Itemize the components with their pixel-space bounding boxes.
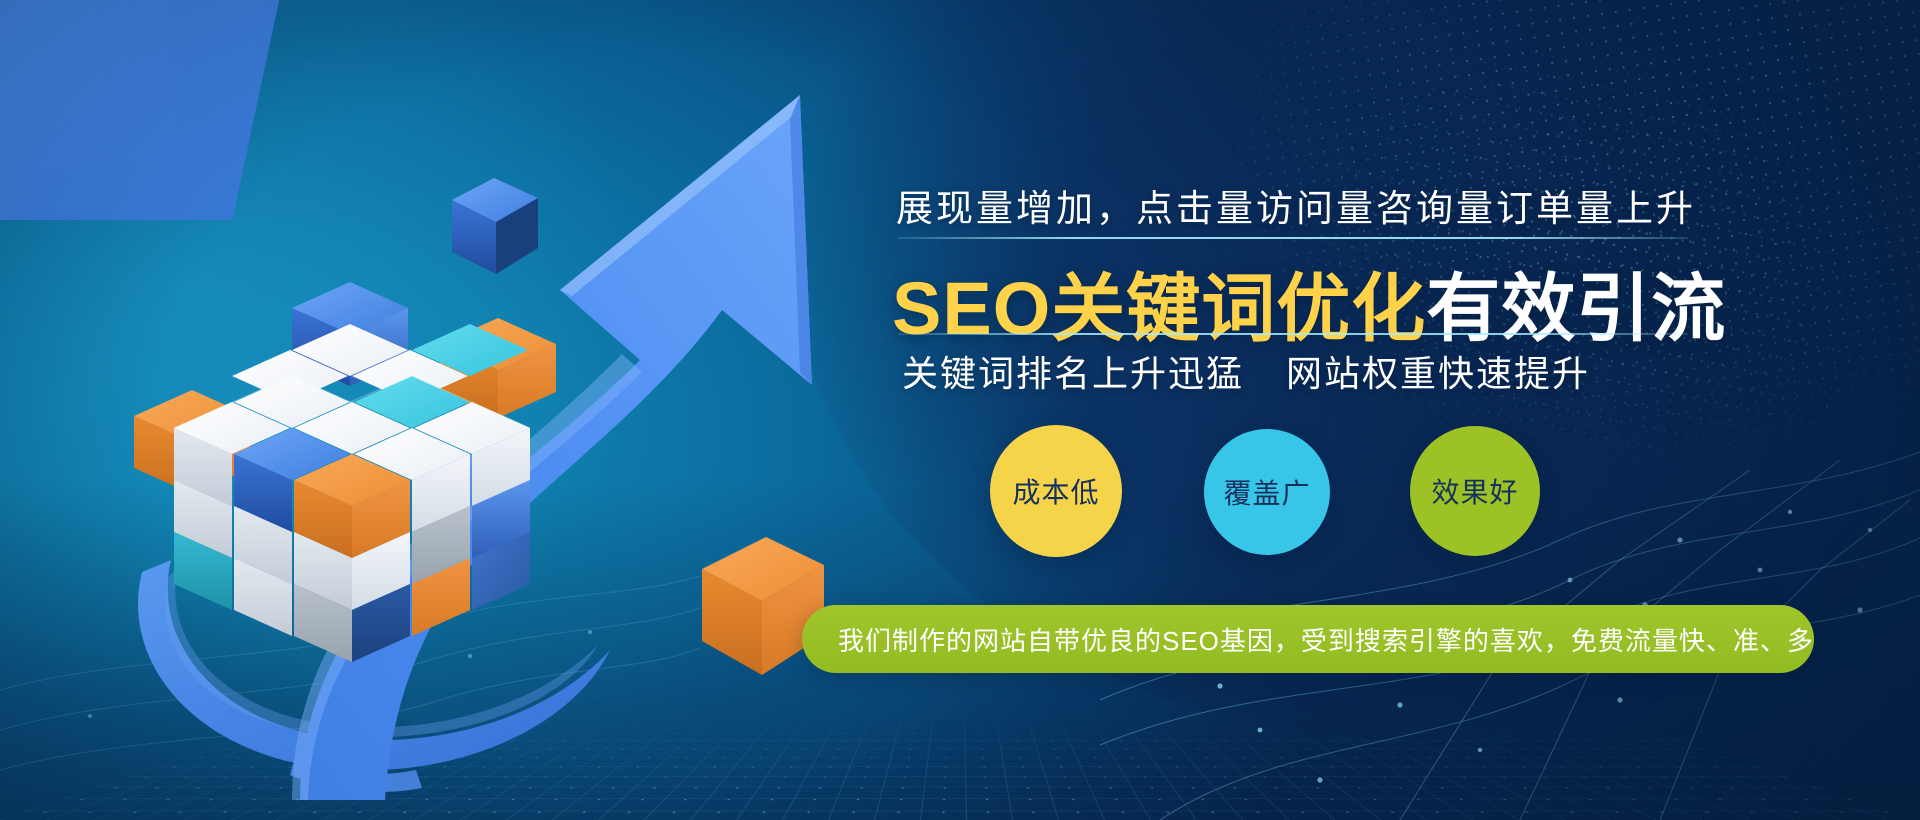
footer-note-text: 我们制作的网站自带优良的SEO基因，受到搜索引擎的喜欢，免费流量快、准、多	[802, 621, 1814, 658]
subline-right: 网站权重快速提升	[1286, 353, 1590, 394]
banner-kicker: 展现量增加，点击量访问量咨询量订单量上升	[896, 178, 1696, 232]
footer-note-bar: 我们制作的网站自带优良的SEO基因，受到搜索引擎的喜欢，免费流量快、准、多	[802, 605, 1814, 673]
divider-bottom	[898, 333, 1688, 335]
badge-effect-good[interactable]: 效果好	[1410, 426, 1540, 556]
badge-label: 成本低	[1012, 471, 1099, 511]
banner-content: 展现量增加，点击量访问量咨询量订单量上升 SEO关键词优化有效引流 关键词排名上…	[880, 0, 1920, 820]
badge-label: 效果好	[1431, 471, 1518, 511]
floating-blue-cube-icon	[452, 178, 538, 274]
badge-label: 覆盖广	[1223, 472, 1310, 512]
badge-coverage-wide[interactable]: 覆盖广	[1204, 429, 1330, 555]
divider-top	[898, 237, 1688, 239]
headline-highlight: SEO关键词优化	[892, 267, 1426, 350]
seo-promo-banner: 展现量增加，点击量访问量咨询量订单量上升 SEO关键词优化有效引流 关键词排名上…	[0, 0, 1920, 820]
subline-left: 关键词排名上升迅猛	[902, 353, 1244, 394]
badge-cost-low[interactable]: 成本低	[990, 425, 1122, 557]
hero-graphic	[0, 0, 920, 820]
banner-subline: 关键词排名上升迅猛网站权重快速提升	[902, 345, 1702, 397]
headline-suffix: 有效引流	[1426, 267, 1726, 350]
banner-headline: SEO关键词优化有效引流	[892, 249, 1722, 356]
badge-group: 成本低 覆盖广 效果好	[990, 425, 1750, 585]
rubiks-cube-icon	[134, 282, 556, 662]
